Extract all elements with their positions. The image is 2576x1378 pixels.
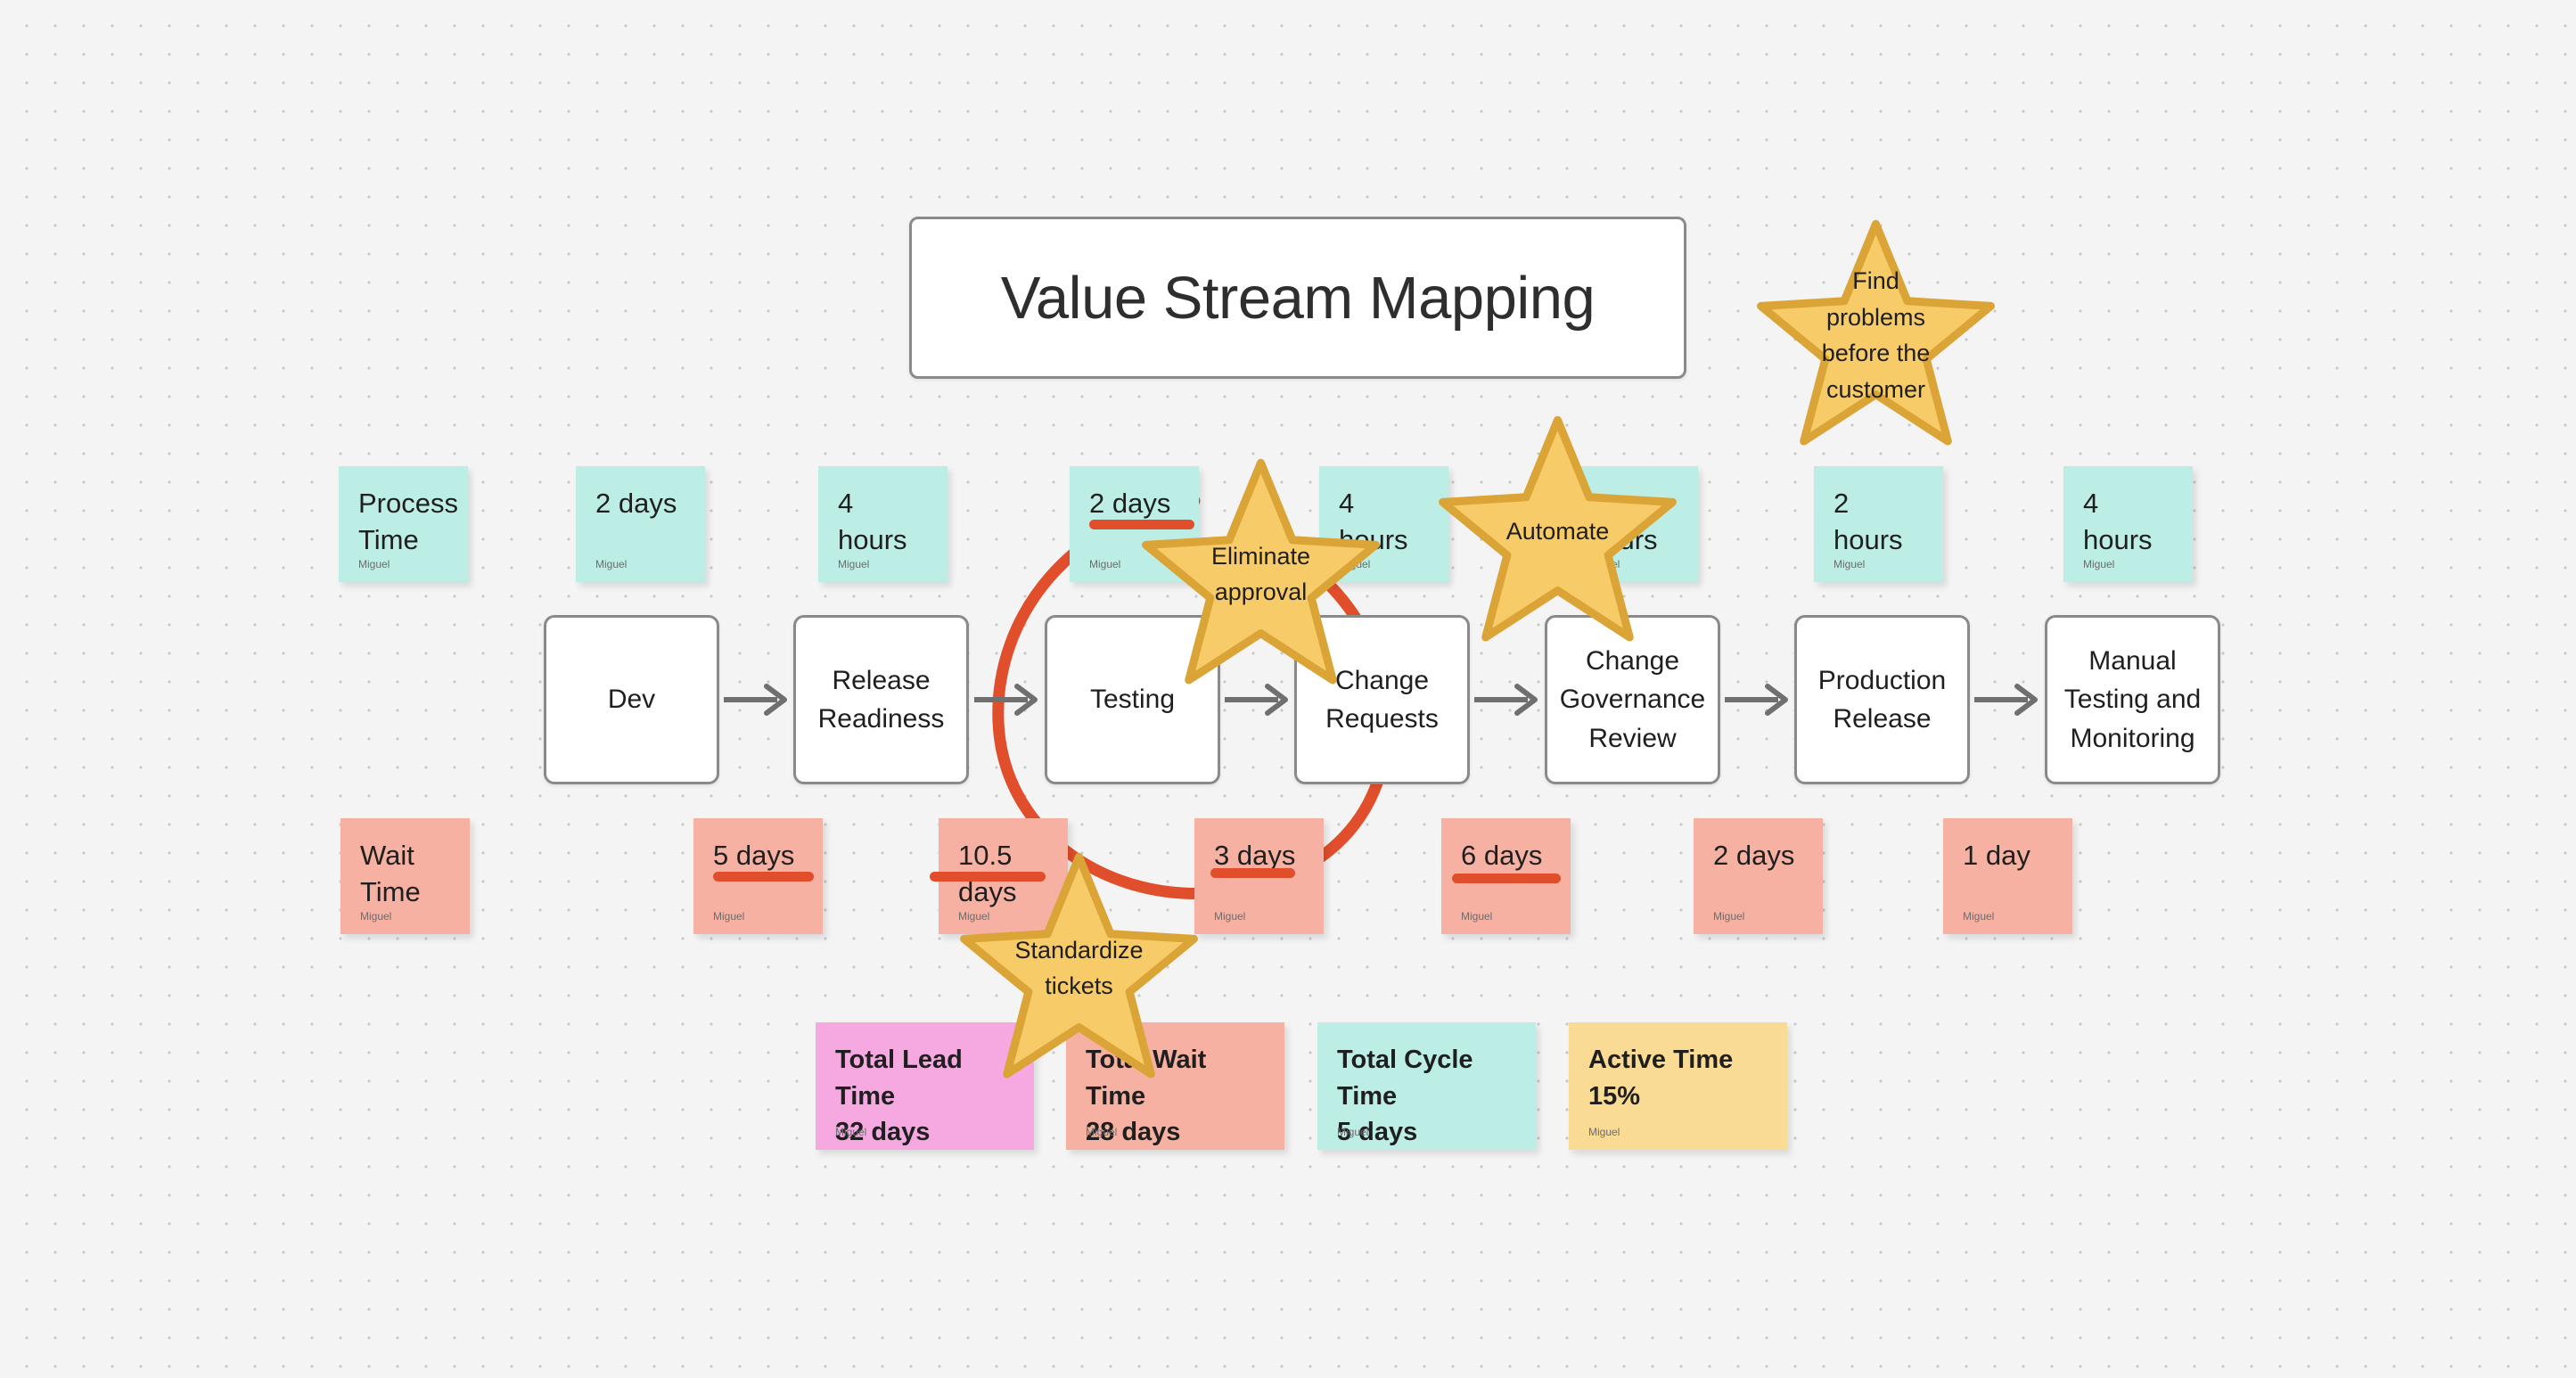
note-text: 2 days <box>1713 838 1803 874</box>
process-time-note-1[interactable]: 2 days Miguel <box>576 466 705 582</box>
process-step-label: Dev <box>601 680 662 719</box>
process-step-label: Release Readiness <box>811 661 952 739</box>
note-text: 4 hours <box>2083 486 2173 559</box>
summary-title: Active Time <box>1588 1042 1768 1079</box>
note-text: 4 hours <box>838 486 928 559</box>
note-text: 1 day <box>1963 838 2053 874</box>
process-step-label: Change Governance Review <box>1553 642 1712 759</box>
note-text: 2 days <box>595 486 685 522</box>
process-time-note-7[interactable]: 4 hours Miguel <box>2063 466 2193 582</box>
flow-arrow-1 <box>722 682 792 718</box>
summary-card-total-cycle-time[interactable]: Total Cycle Time 5 days Miguel <box>1317 1022 1536 1150</box>
wait-time-note-1[interactable]: 5 days Miguel <box>693 818 823 934</box>
process-step-manual-testing-and-monitoring[interactable]: Manual Testing and Monitoring <box>2045 615 2220 784</box>
process-step-production-release[interactable]: Production Release <box>1794 615 1970 784</box>
note-text: 6 days <box>1461 838 1551 874</box>
wait-time-note-3[interactable]: 3 days Miguel <box>1194 818 1324 934</box>
page-title: Value Stream Mapping <box>1001 268 1596 328</box>
flow-arrow-5 <box>1723 682 1793 718</box>
process-time-note-0[interactable]: Process Time Miguel <box>339 466 468 582</box>
note-text: 5 days <box>713 838 803 874</box>
note-author: Miguel <box>1461 910 1492 923</box>
note-text: Wait Time <box>360 838 450 911</box>
star-note-find-problems[interactable]: Find problems before the customer <box>1749 214 2003 456</box>
star-label: Find problems before the customer <box>1782 263 1970 407</box>
wait-time-note-4[interactable]: 6 days Miguel <box>1441 818 1571 934</box>
process-step-dev[interactable]: Dev <box>544 615 719 784</box>
note-author: Miguel <box>1337 1126 1368 1138</box>
star-note-eliminate-approval[interactable]: Eliminate approval <box>1134 453 1388 695</box>
process-time-note-6[interactable]: 2 hours Miguel <box>1814 466 1943 582</box>
process-step-label: Production Release <box>1811 661 1953 739</box>
strike-mark <box>1452 874 1561 883</box>
star-note-standardize-tickets[interactable]: Standardize tickets <box>952 847 1206 1089</box>
flow-arrow-2 <box>972 682 1042 718</box>
summary-title: Total Cycle Time <box>1337 1042 1516 1114</box>
strike-mark <box>713 872 814 882</box>
process-step-label: Manual Testing and Monitoring <box>2057 642 2208 759</box>
wait-time-note-5[interactable]: 2 days Miguel <box>1694 818 1823 934</box>
note-author: Miguel <box>1086 1126 1117 1138</box>
process-time-note-2[interactable]: 4 hours Miguel <box>818 466 948 582</box>
note-author: Miguel <box>358 558 390 570</box>
note-text: Process Time <box>358 486 448 559</box>
summary-value: 15% <box>1588 1079 1768 1115</box>
star-note-automate[interactable]: Automate <box>1431 410 1685 652</box>
process-step-release-readiness[interactable]: Release Readiness <box>793 615 969 784</box>
wait-time-note-6[interactable]: 1 day Miguel <box>1943 818 2072 934</box>
flow-arrow-4 <box>1473 682 1542 718</box>
flow-arrow-6 <box>1973 682 2042 718</box>
star-label: Eliminate approval <box>1167 538 1355 611</box>
note-author: Miguel <box>713 910 744 923</box>
note-author: Miguel <box>838 558 869 570</box>
strike-mark <box>1210 868 1295 878</box>
note-author: Miguel <box>835 1126 866 1138</box>
note-author: Miguel <box>1713 910 1744 923</box>
note-author: Miguel <box>2083 558 2114 570</box>
note-author: Miguel <box>1089 558 1120 570</box>
whiteboard-canvas[interactable]: Value Stream Mapping Process Time Miguel… <box>0 0 2576 1378</box>
star-label: Automate <box>1464 513 1652 550</box>
note-author: Miguel <box>360 910 391 923</box>
note-author: Miguel <box>1588 1126 1620 1138</box>
note-author: Miguel <box>1963 910 1994 923</box>
star-label: Standardize tickets <box>985 932 1173 1005</box>
note-author: Miguel <box>595 558 627 570</box>
board-title-card[interactable]: Value Stream Mapping <box>909 217 1686 379</box>
note-author: Miguel <box>1214 910 1245 923</box>
summary-card-active-time[interactable]: Active Time 15% Miguel <box>1569 1022 1787 1150</box>
note-author: Miguel <box>1834 558 1865 570</box>
note-text: 2 hours <box>1834 486 1924 559</box>
wait-time-note-0[interactable]: Wait Time Miguel <box>340 818 470 934</box>
